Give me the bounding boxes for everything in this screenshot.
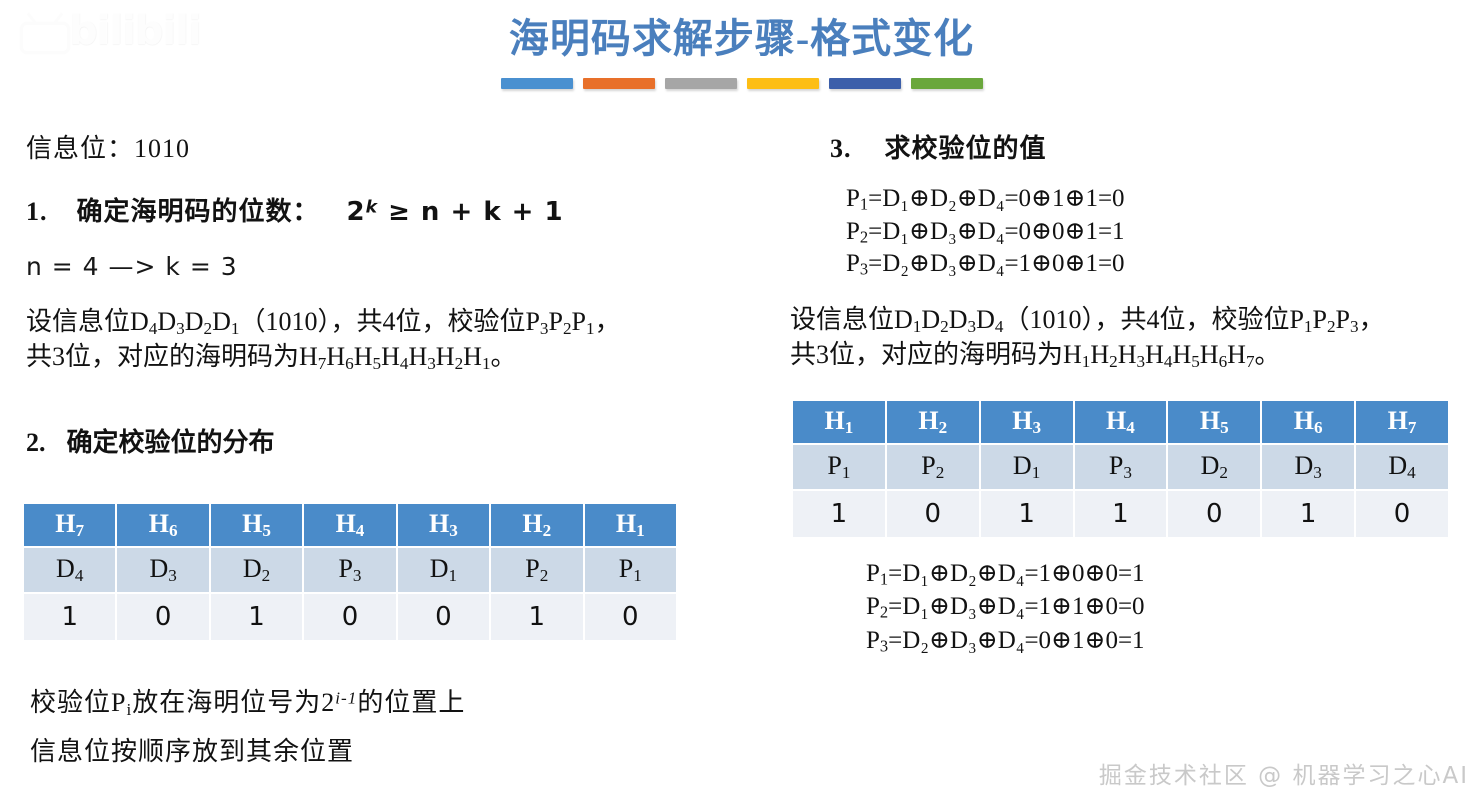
cell-base: D (149, 554, 168, 583)
table-header-row: H1 H2 H3 H4 H5 H6 H7 (793, 401, 1448, 443)
cell-base: P (338, 554, 352, 583)
cell-sub: 3 (1313, 463, 1322, 482)
formula-rest: ≥ n + k + 1 (378, 197, 564, 227)
cell-sub: 1 (633, 566, 642, 585)
step-1-number: 1. (26, 197, 48, 226)
cell-sub: 3 (168, 566, 177, 585)
text-run: （1010），共4位，校验位P (1003, 305, 1303, 334)
text-run: P (1336, 305, 1350, 334)
cell-base: H (1388, 406, 1408, 435)
formula-rhs: =D₁⊕D₃⊕D₄=0⊕0⊕1=1 (868, 218, 1124, 245)
table-value-cell: 0 (1356, 491, 1448, 537)
formula-p3: P3=D₂⊕D₃⊕D₄=1⊕0⊕1=0 (846, 248, 1470, 281)
bottom-formula-p3: P3=D₂⊕D₃⊕D₄=0⊕1⊕0=1 (866, 624, 1145, 657)
table-header-cell: H6 (117, 504, 208, 546)
accent-bar-dark-blue (829, 78, 901, 89)
sub: 6 (1219, 352, 1228, 371)
cell-base: D (243, 554, 262, 583)
table-value-cell: 1 (793, 491, 885, 537)
text-run: P (572, 307, 586, 336)
note-line-2: 信息位按顺序放到其余位置 (30, 727, 465, 776)
note-line-1: 校验位Pi放在海明位号为2i-1的位置上 (30, 678, 465, 727)
cell-base: D (1294, 451, 1313, 480)
text-run: P (548, 307, 562, 336)
n-k-line: n = 4 —> k = 3 (26, 252, 736, 281)
table-value-cell: 1 (981, 491, 1073, 537)
text-run: H (463, 342, 482, 371)
cell-sub: 4 (356, 521, 365, 540)
formula-base: 2 (347, 197, 366, 227)
cell-base: D (1388, 451, 1407, 480)
formula-lhs: P (866, 560, 880, 587)
cell-sub: 5 (262, 521, 271, 540)
cell-sub: 2 (540, 566, 549, 585)
cell-base: P (921, 451, 935, 480)
text-run: H (354, 342, 373, 371)
cell-base: H (1012, 406, 1032, 435)
text-run: 设信息位D (790, 305, 913, 334)
sub: 2 (1327, 316, 1336, 335)
sub: 2 (563, 319, 572, 338)
bottom-formula-p2: P2=D₁⊕D₃⊕D₄=1⊕1⊕0=0 (866, 590, 1145, 623)
formula-lhs: P (846, 185, 860, 212)
table-mapping-cell: P3 (304, 548, 395, 592)
left-column: 信息位：1010 1. 确定海明码的位数： 2k ≥ n + k + 1 n =… (26, 128, 736, 489)
cell-sub: 2 (939, 418, 948, 437)
table-mapping-cell: D3 (117, 548, 208, 592)
text-run: H (1200, 340, 1219, 369)
formula-lhs-sub: 1 (880, 570, 888, 589)
sub: 2 (204, 319, 213, 338)
table-mapping-cell: D4 (1356, 445, 1448, 489)
sub: 3 (968, 316, 977, 335)
formula-lhs: P (866, 627, 880, 654)
sub: 1 (586, 319, 595, 338)
sub: 2 (1109, 352, 1118, 371)
formula-lhs-sub: 2 (860, 227, 868, 246)
sub: 5 (373, 354, 382, 373)
formula-p2: P2=D₁⊕D₃⊕D₄=0⊕0⊕1=1 (846, 216, 1470, 249)
formula-lhs: P (846, 250, 860, 277)
sub: 2 (455, 354, 464, 373)
table-header-cell: H5 (211, 504, 302, 546)
text-run: 共3位，对应的海明码为H (26, 342, 318, 371)
table-header-row: H7 H6 H5 H4 H3 H2 H1 (24, 504, 676, 546)
sub: 2 (940, 316, 949, 335)
text-run: H (1227, 340, 1246, 369)
title-block: 海明码求解步骤-格式变化 (0, 14, 1483, 89)
cell-base: H (522, 509, 542, 538)
step-2-text: 确定校验位的分布 (67, 428, 275, 457)
formula-rhs: =D₂⊕D₃⊕D₄=1⊕0⊕1=0 (868, 250, 1124, 277)
text-run: H (436, 342, 455, 371)
cell-base: H (429, 509, 449, 538)
step-3-text: 求校验位的值 (885, 134, 1047, 163)
sub: 3 (1350, 316, 1359, 335)
cell-sub: 3 (1032, 418, 1041, 437)
formula-lhs: P (846, 218, 860, 245)
table-mapping-row: P1 P2 D1 P3 D2 D3 D4 (793, 445, 1448, 489)
formula-lhs-sub: 3 (880, 636, 888, 655)
table-mapping-cell: D2 (211, 548, 302, 592)
cell-sub: 1 (1032, 463, 1041, 482)
text-run: 放在海明位号为2 (132, 688, 335, 717)
cell-sub: 2 (543, 521, 552, 540)
sup: i-1 (335, 688, 357, 707)
text-run: H (1145, 340, 1164, 369)
text-run: H (408, 342, 427, 371)
text-run: 共3位，对应的海明码为H (790, 340, 1082, 369)
cell-sub: 4 (1407, 463, 1416, 482)
cell-base: P (827, 451, 841, 480)
cell-base: P (1109, 451, 1123, 480)
accent-bar-green (911, 78, 983, 89)
title-accent-bars (0, 78, 1483, 89)
table-value-cell: 0 (887, 491, 979, 537)
formula-p1: P1=D₁⊕D₂⊕D₄=0⊕1⊕1=0 (846, 183, 1470, 216)
sub: 1 (482, 354, 491, 373)
sub: 3 (427, 354, 436, 373)
sub: 7 (1246, 352, 1255, 371)
table-header-cell: H7 (24, 504, 115, 546)
right-column: 3. 求校验位的值 P1=D₁⊕D₂⊕D₄=0⊕1⊕1=0 P2=D₁⊕D₃⊕D… (790, 128, 1470, 373)
text-run: 设信息位D (26, 307, 149, 336)
cell-sub: 6 (1314, 418, 1323, 437)
table-header-cell: H4 (304, 504, 395, 546)
cell-sub: 3 (353, 566, 362, 585)
cell-base: D (430, 554, 449, 583)
formula-exponent: k (366, 197, 378, 217)
table-mapping-cell: D1 (981, 445, 1073, 489)
cell-sub: 2 (262, 566, 271, 585)
left-description-paragraph: 设信息位D4D3D2D1（1010），共4位，校验位P3P2P1， 共3位，对应… (26, 305, 736, 376)
left-hamming-table: H7 H6 H5 H4 H3 H2 H1 D4 D3 D2 P3 D1 P2 P… (22, 502, 678, 642)
step-1-text: 确定海明码的位数： (77, 197, 320, 226)
table-value-cell: 1 (491, 594, 582, 640)
table-mapping-cell: P2 (491, 548, 582, 592)
text-run: 。 (1255, 340, 1281, 369)
formula-rhs: =D₁⊕D₃⊕D₄=1⊕1⊕0=0 (888, 593, 1144, 620)
table-header-cell: H7 (1356, 401, 1448, 443)
table-mapping-cell: P1 (585, 548, 676, 592)
cell-sub: 3 (449, 521, 458, 540)
cell-sub: 5 (1220, 418, 1229, 437)
sub: 3 (176, 319, 185, 338)
accent-bar-orange (583, 78, 655, 89)
step-1-formula: 2k ≥ n + k + 1 (347, 197, 564, 227)
formula-rhs: =D₂⊕D₃⊕D₄=0⊕1⊕0=1 (888, 627, 1144, 654)
table-mapping-cell: D1 (398, 548, 489, 592)
table-header-cell: H1 (585, 504, 676, 546)
text-run: P (1312, 305, 1326, 334)
cell-base: D (56, 554, 75, 583)
table-header-cell: H3 (398, 504, 489, 546)
step-3-number: 3. (830, 134, 852, 163)
cell-base: H (1294, 406, 1314, 435)
table-value-cell: 0 (398, 594, 489, 640)
table-header-cell: H6 (1262, 401, 1354, 443)
sub: 5 (1191, 352, 1200, 371)
cell-base: P (525, 554, 539, 583)
text-run: D (949, 305, 968, 334)
text-run: 。 (491, 342, 517, 371)
cell-sub: 3 (1123, 463, 1132, 482)
text-run: D (921, 305, 940, 334)
table-value-cell: 1 (1262, 491, 1354, 537)
cell-sub: 1 (636, 521, 645, 540)
left-hamming-table-container: H7 H6 H5 H4 H3 H2 H1 D4 D3 D2 P3 D1 P2 P… (22, 502, 678, 642)
step-3-formula-list: P1=D₁⊕D₂⊕D₄=0⊕1⊕1=0 P2=D₁⊕D₃⊕D₄=0⊕0⊕1=1 … (846, 183, 1470, 281)
cell-base: D (1201, 451, 1220, 480)
table-mapping-cell: P1 (793, 445, 885, 489)
table-value-cell: 0 (1168, 491, 1260, 537)
table-value-cell: 0 (117, 594, 208, 640)
table-value-row: 1 0 1 0 0 1 0 (24, 594, 676, 640)
cell-base: H (918, 406, 938, 435)
cell-sub: 1 (845, 418, 854, 437)
cell-base: H (825, 406, 845, 435)
table-header-cell: H4 (1075, 401, 1167, 443)
cell-sub: 1 (449, 566, 458, 585)
text-run: D (157, 307, 176, 336)
formula-lhs: P (866, 593, 880, 620)
cell-sub: 2 (936, 463, 945, 482)
right-hamming-table-container: H1 H2 H3 H4 H5 H6 H7 P1 P2 D1 P3 D2 D3 D… (791, 399, 1450, 539)
cell-base: P (619, 554, 633, 583)
cell-sub: 7 (1408, 418, 1417, 437)
cell-sub: 7 (76, 521, 85, 540)
accent-bar-yellow (747, 78, 819, 89)
table-mapping-row: D4 D3 D2 P3 D1 P2 P1 (24, 548, 676, 592)
cell-sub: 6 (169, 521, 178, 540)
text-run: H (1118, 340, 1137, 369)
formula-rhs: =D₁⊕D₂⊕D₄=1⊕0⊕0=1 (888, 560, 1144, 587)
text-run: H (381, 342, 400, 371)
cell-sub: 2 (1219, 463, 1228, 482)
right-hamming-table: H1 H2 H3 H4 H5 H6 H7 P1 P2 D1 P3 D2 D3 D… (791, 399, 1450, 539)
page-title: 海明码求解步骤-格式变化 (0, 14, 1483, 64)
table-mapping-cell: P3 (1075, 445, 1167, 489)
table-mapping-cell: P2 (887, 445, 979, 489)
table-mapping-cell: D2 (1168, 445, 1260, 489)
table-value-cell: 0 (585, 594, 676, 640)
formula-rhs: =D₁⊕D₂⊕D₄=0⊕1⊕1=0 (868, 185, 1124, 212)
table-value-row: 1 0 1 1 0 1 0 (793, 491, 1448, 537)
text-run: H (1090, 340, 1109, 369)
sub: 6 (345, 354, 354, 373)
text-run: D (185, 307, 204, 336)
cell-base: H (1106, 406, 1126, 435)
cell-base: H (242, 509, 262, 538)
table-value-cell: 0 (304, 594, 395, 640)
table-value-cell: 1 (211, 594, 302, 640)
table-value-cell: 1 (24, 594, 115, 640)
formula-lhs-sub: 1 (860, 195, 868, 214)
cell-base: D (1013, 451, 1032, 480)
text-run: H (326, 342, 345, 371)
left-bottom-notes: 校验位Pi放在海明位号为2i-1的位置上 信息位按顺序放到其余位置 (30, 678, 465, 777)
formula-lhs-sub: 2 (880, 603, 888, 622)
text-run: ， (1359, 305, 1385, 334)
table-header-cell: H2 (491, 504, 582, 546)
cell-base: H (616, 509, 636, 538)
sub: 3 (1137, 352, 1146, 371)
cell-base: H (149, 509, 169, 538)
formula-lhs-sub: 3 (860, 260, 868, 279)
bottom-formula-p1: P1=D₁⊕D₂⊕D₄=1⊕0⊕0=1 (866, 557, 1145, 590)
text-run: 的位置上 (357, 688, 465, 717)
table-value-cell: 1 (1075, 491, 1167, 537)
cell-sub: 4 (1126, 418, 1135, 437)
step-3-heading: 3. 求校验位的值 (830, 128, 1470, 165)
step-1-heading: 1. 确定海明码的位数： 2k ≥ n + k + 1 (26, 191, 736, 228)
cell-sub: 1 (842, 463, 851, 482)
channel-watermark: 掘金技术社区 @ 机器学习之心AI (1099, 756, 1469, 790)
table-header-cell: H1 (793, 401, 885, 443)
table-mapping-cell: D3 (1262, 445, 1354, 489)
text-run: D (212, 307, 231, 336)
table-header-cell: H3 (981, 401, 1073, 443)
accent-bar-gray (665, 78, 737, 89)
cell-base: H (1200, 406, 1220, 435)
table-header-cell: H2 (887, 401, 979, 443)
right-description-paragraph: 设信息位D1D2D3D4（1010），共4位，校验位P1P2P3， 共3位，对应… (790, 303, 1470, 374)
step-2-number: 2. (26, 428, 46, 457)
cell-base: H (55, 509, 75, 538)
text-run: 校验位P (30, 688, 126, 717)
accent-bar-blue (501, 78, 573, 89)
table-header-cell: H5 (1168, 401, 1260, 443)
text-run: D (976, 305, 995, 334)
right-bottom-formula-list: P1=D₁⊕D₂⊕D₄=1⊕0⊕0=1 P2=D₁⊕D₃⊕D₄=1⊕1⊕0=0 … (866, 557, 1145, 657)
text-run: ， (595, 307, 621, 336)
text-run: （1010），共4位，校验位P (239, 307, 539, 336)
text-run: H (1172, 340, 1191, 369)
step-2-heading: 2. 确定校验位的分布 (26, 422, 736, 459)
cell-base: H (336, 509, 356, 538)
table-mapping-cell: D4 (24, 548, 115, 592)
info-bits-line: 信息位：1010 (26, 128, 736, 165)
cell-sub: 4 (75, 566, 84, 585)
